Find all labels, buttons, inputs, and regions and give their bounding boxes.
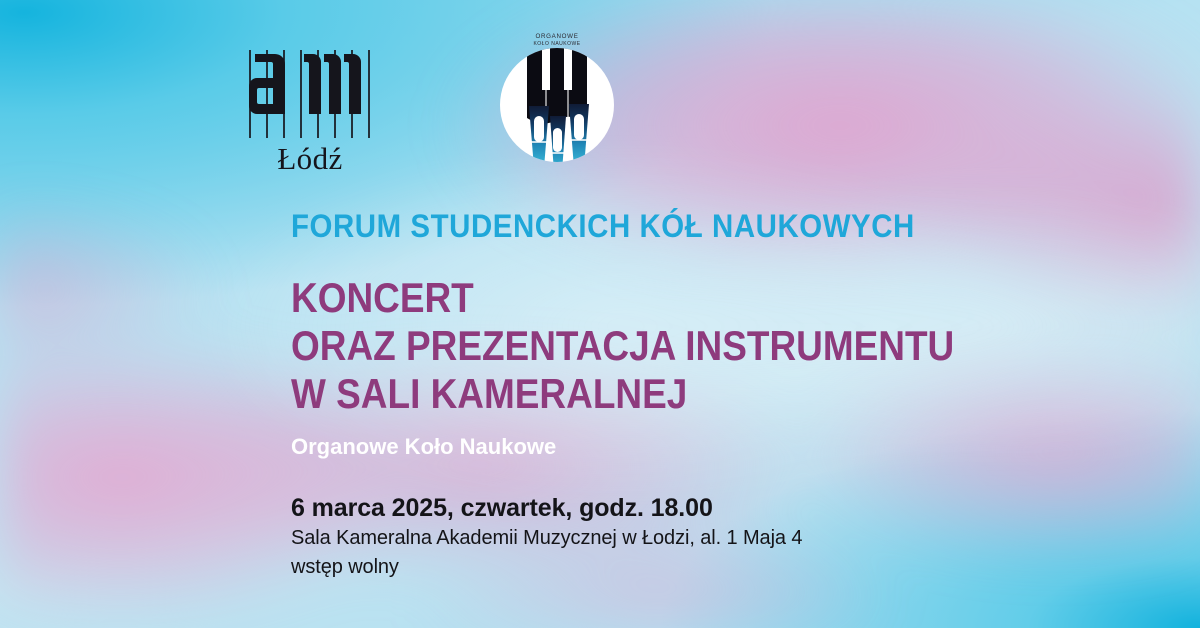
event-admission: wstęp wolny [291, 553, 802, 582]
forum-heading: FORUM STUDENCKICH KÓŁ NAUKOWYCH [291, 208, 915, 245]
page-title-line-2: ORAZ PREZENTACJA INSTRUMENTU [291, 322, 954, 370]
subtitle: Organowe Koło Naukowe [291, 434, 556, 460]
organ-pipes-piano-keys-circle-icon: ORGANOWE KOŁO NAUKOWE [487, 20, 627, 165]
event-poster: Łódź [0, 0, 1200, 628]
organ-club-logo-line1: ORGANOWE [535, 33, 578, 40]
event-venue: Sala Kameralna Akademii Muzycznej w Łodz… [291, 524, 802, 553]
page-title: KONCERT ORAZ PREZENTACJA INSTRUMENTU W S… [291, 274, 954, 418]
academy-logo: Łódź [245, 48, 375, 180]
academy-logo-wordmark: Łódź [245, 141, 375, 177]
page-title-line-3: W SALI KAMERALNEJ [291, 370, 954, 418]
event-details: 6 marca 2025, czwartek, godz. 18.00 Sala… [291, 492, 802, 582]
organ-club-logo-line2: KOŁO NAUKOWE [533, 41, 580, 47]
event-date: 6 marca 2025, czwartek, godz. 18.00 [291, 492, 802, 524]
organ-club-logo: ORGANOWE KOŁO NAUKOWE [487, 20, 627, 165]
page-title-line-1: KONCERT [291, 274, 954, 322]
piano-keys-am-monogram-icon [245, 48, 375, 140]
